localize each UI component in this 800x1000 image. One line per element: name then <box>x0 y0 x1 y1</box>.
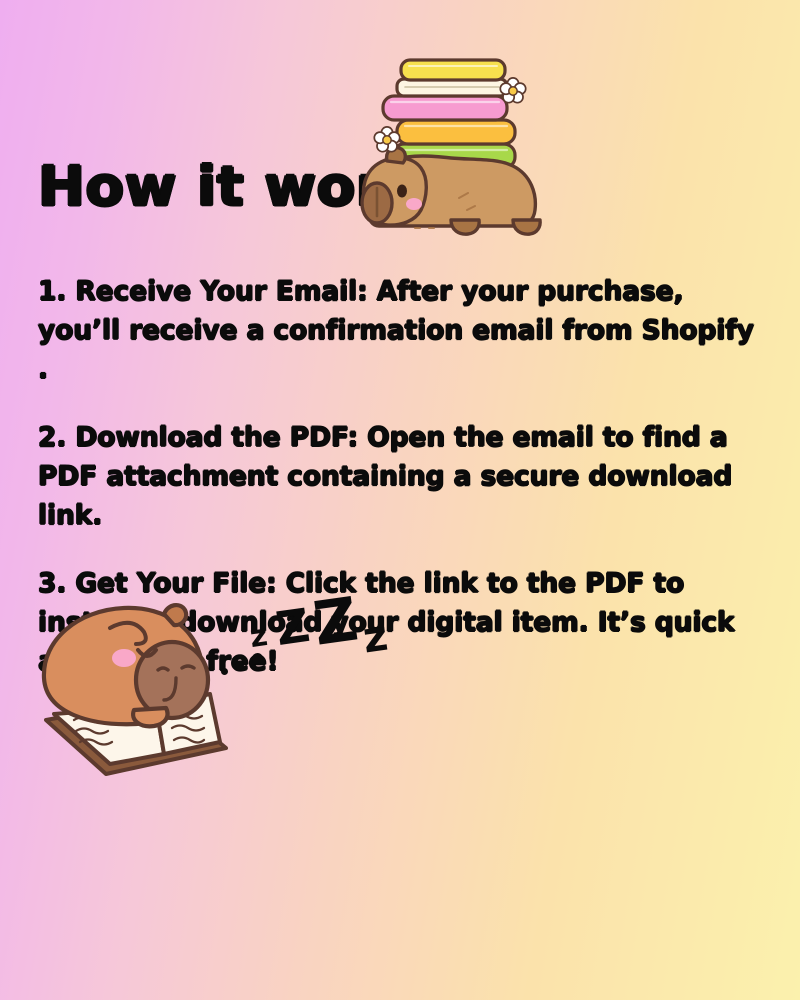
step-item-2: 2. Download the PDF: Open the email to f… <box>38 418 764 535</box>
capybara-foot-front <box>451 220 479 234</box>
capybara-with-book-stack-illustration <box>355 58 551 244</box>
sleeping-capybara-paw <box>133 708 167 726</box>
capybara-eye <box>397 185 407 198</box>
sleeping-capybara-cheek <box>112 649 136 667</box>
sleeping-capybara-on-book-illustration <box>30 592 266 788</box>
sleeping-capybara-muzzle <box>136 642 208 718</box>
step-item-1: 1. Receive Your Email: After your purcha… <box>38 272 764 389</box>
capybara-cheek <box>406 198 422 210</box>
book-yellow <box>401 60 505 80</box>
capybara-foot-back <box>513 220 540 234</box>
book-orange <box>397 120 515 144</box>
book-pink <box>383 96 507 120</box>
